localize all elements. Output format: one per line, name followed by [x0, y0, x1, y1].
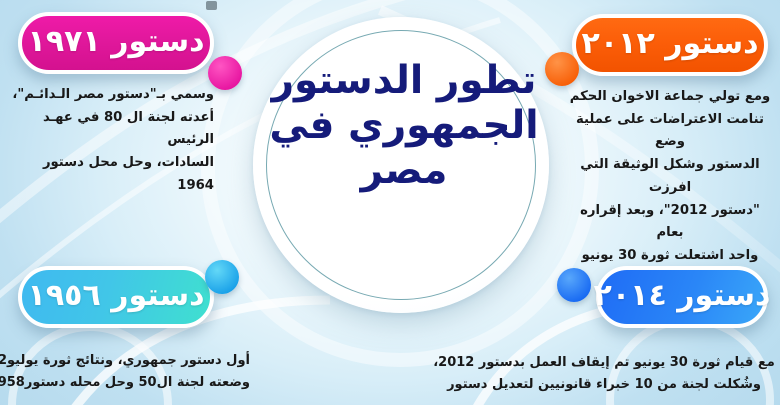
node-label-2014: دستور ٢٠١٤ [594, 278, 771, 313]
node-line: وسمي بـ"دستور مصر الـدائـم"، [6, 84, 214, 107]
node-pill-2012[interactable]: دستور ٢٠١٢ [572, 14, 768, 76]
node-line: ومع تولي جماعة الاخوان الحكم [566, 86, 774, 109]
page-title: تطور الدستور الجمهوري في مصر [268, 58, 540, 194]
node-line: السادات، وحل محل دستور 1964 [6, 152, 214, 197]
node-line: "دستور 2012"، وبعد إقراره بعام [566, 200, 774, 245]
node-body-1956: أول دستور جمهوري، ونتائج ثورة يوليو1952 … [4, 350, 250, 395]
node-line: وشُكلت لجنة من 10 خبراء قانونيين لتعديل … [432, 374, 776, 396]
node-pill-1956[interactable]: دستور ١٩٥٦ [18, 266, 214, 328]
node-line: واحد اشتعلت ثورة 30 يونيو [566, 245, 774, 268]
node-pill-1971[interactable]: دستور ١٩٧١ [18, 12, 214, 74]
corner-artifact [206, 1, 217, 10]
node-pill-2014[interactable]: دستور ٢٠١٤ [596, 266, 768, 328]
node-label-1971: دستور ١٩٧١ [28, 24, 205, 59]
connector-dot-2012 [545, 52, 579, 86]
node-label-2012: دستور ٢٠١٢ [582, 26, 759, 61]
connector-dot-2014 [557, 268, 591, 302]
node-line: الدستور وشكل الوثيقة التي افرزت [566, 154, 774, 199]
node-body-1971: وسمي بـ"دستور مصر الـدائـم"، أعدته لجنة … [6, 84, 214, 198]
node-line: تنامت الاعتراضات على عملية وضع [566, 109, 774, 154]
node-body-2012: ومع تولي جماعة الاخوان الحكم تنامت الاعت… [566, 86, 774, 290]
node-body-2014: مع قيام ثورة 30 يونيو تم إيقاف العمل بدس… [432, 352, 776, 397]
node-line: أول دستور جمهوري، ونتائج ثورة يوليو1952 [4, 350, 250, 372]
node-line: مع قيام ثورة 30 يونيو تم إيقاف العمل بدس… [432, 352, 776, 374]
connector-dot-1956 [205, 260, 239, 294]
node-line: أعدته لجنة ال 80 في عهـد الرئيس [6, 107, 214, 152]
node-line: وضعته لجنة ال50 وحل محله دستور1958 [4, 372, 250, 394]
node-label-1956: دستور ١٩٥٦ [28, 278, 205, 313]
